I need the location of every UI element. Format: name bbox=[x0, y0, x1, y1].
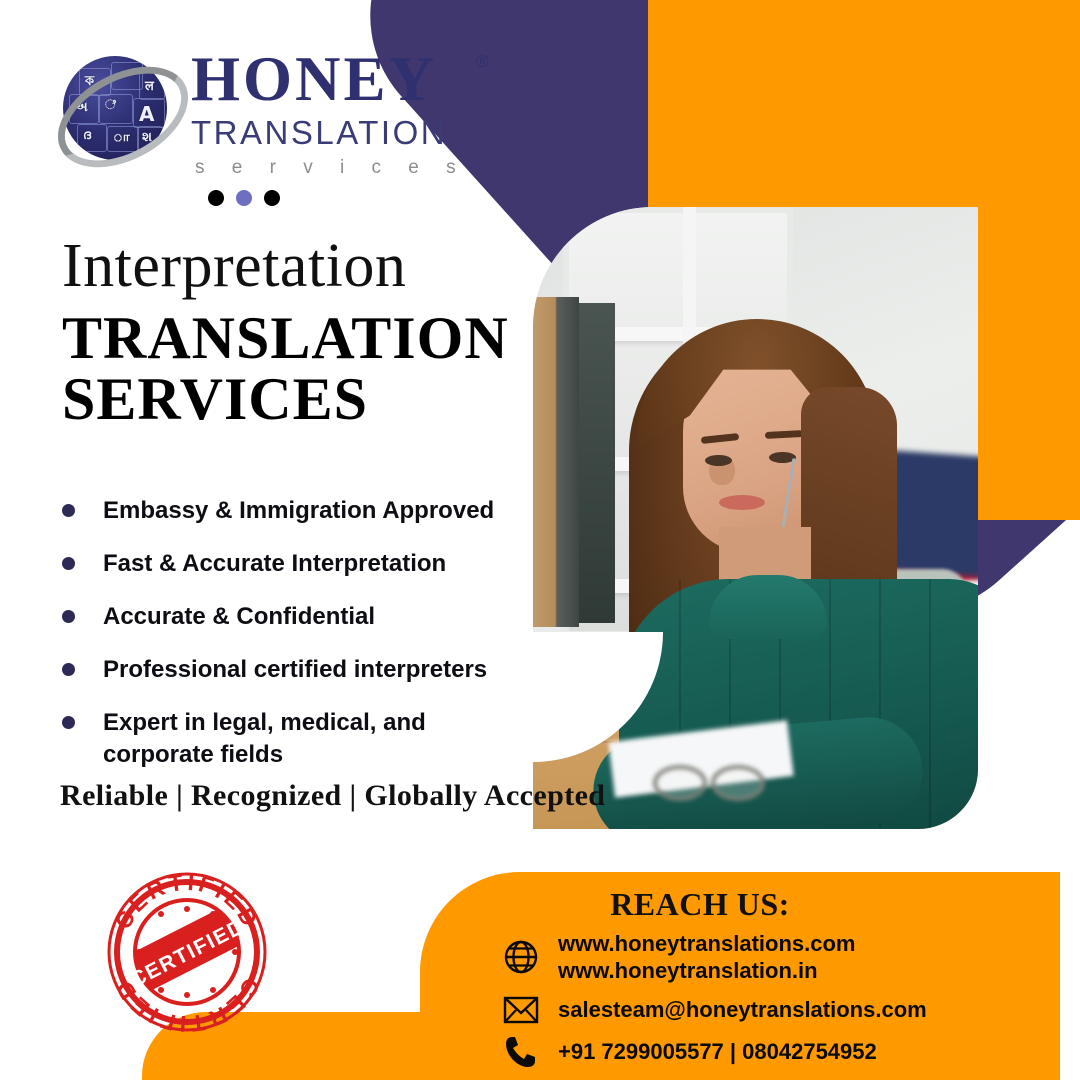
tagline: Reliable | Recognized | Globally Accepte… bbox=[60, 779, 605, 813]
globe-languages-icon: ক ଴ ल અ ೆ A ദ ா શ bbox=[55, 48, 177, 170]
globe-icon bbox=[498, 939, 544, 975]
headline-bold-1: TRANSLATION bbox=[62, 305, 509, 372]
list-item: Accurate & Confidential bbox=[56, 601, 526, 633]
bullet-icon bbox=[62, 504, 75, 517]
contact-website-lines: www.honeytranslations.com www.honeytrans… bbox=[558, 930, 855, 985]
contact-row-website[interactable]: www.honeytranslations.com www.honeytrans… bbox=[498, 930, 927, 985]
photo-lips bbox=[719, 495, 765, 510]
bullet-icon bbox=[62, 663, 75, 676]
contact-email: salesteam@honeytranslations.com bbox=[558, 996, 927, 1023]
dot-3 bbox=[264, 190, 280, 206]
envelope-icon bbox=[498, 995, 544, 1025]
list-item-label: Professional certified interpreters bbox=[103, 654, 487, 686]
logo-name-secondary: TRANSLATION bbox=[191, 114, 467, 152]
photo-dark-panel bbox=[579, 303, 615, 623]
photo-glasses bbox=[653, 765, 773, 795]
logo-name-tertiary: s e r v i c e s bbox=[191, 157, 467, 179]
bullet-icon bbox=[62, 610, 75, 623]
registered-mark: ® bbox=[476, 52, 489, 72]
certified-stamp-icon: CERTIFIED CERTIFIED CERTIFIED bbox=[103, 868, 271, 1036]
contact-row-phone[interactable]: +91 7299005577 | 08042754952 bbox=[498, 1035, 927, 1069]
contact-row-email[interactable]: salesteam@honeytranslations.com bbox=[498, 995, 927, 1025]
list-item: Expert in legal, medical, and corporate … bbox=[56, 707, 526, 771]
bullet-icon bbox=[62, 716, 75, 729]
website-line-2: www.honeytranslation.in bbox=[558, 958, 818, 983]
list-item: Professional certified interpreters bbox=[56, 654, 526, 686]
list-item-label: Expert in legal, medical, and corporate … bbox=[103, 707, 463, 771]
contact-title: REACH US: bbox=[420, 886, 980, 923]
list-item-label: Fast & Accurate Interpretation bbox=[103, 548, 446, 580]
feature-list: Embassy & Immigration Approved Fast & Ac… bbox=[56, 495, 526, 791]
list-item: Fast & Accurate Interpretation bbox=[56, 548, 526, 580]
bullet-icon bbox=[62, 557, 75, 570]
contact-rows: www.honeytranslations.com www.honeytrans… bbox=[498, 930, 927, 1079]
page-title: Interpretation TRANSLATION SERVICES bbox=[62, 234, 509, 433]
dot-2 bbox=[236, 190, 252, 206]
photo-eye bbox=[705, 455, 732, 466]
brand-logo: ক ଴ ल અ ೆ A ദ ா શ HONEY ® TRANSLATION s … bbox=[55, 48, 467, 179]
poster-canvas: ক ଴ ल અ ೆ A ദ ா શ HONEY ® TRANSLATION s … bbox=[0, 0, 1080, 1080]
website-line-1: www.honeytranslations.com bbox=[558, 931, 855, 956]
dot-1 bbox=[208, 190, 224, 206]
headline-bold-2: SERVICES bbox=[62, 366, 509, 433]
list-item-label: Accurate & Confidential bbox=[103, 601, 375, 633]
contact-panel: REACH US: www.honeytranslations.com www.… bbox=[420, 872, 1060, 1080]
logo-name-primary: HONEY bbox=[191, 50, 467, 110]
contact-phone: +91 7299005577 | 08042754952 bbox=[558, 1038, 877, 1065]
list-item-label: Embassy & Immigration Approved bbox=[103, 495, 494, 527]
headline-script: Interpretation bbox=[62, 234, 509, 299]
list-item: Embassy & Immigration Approved bbox=[56, 495, 526, 527]
decorative-dots bbox=[208, 190, 280, 206]
photo-books bbox=[533, 297, 579, 627]
phone-icon bbox=[498, 1035, 544, 1069]
